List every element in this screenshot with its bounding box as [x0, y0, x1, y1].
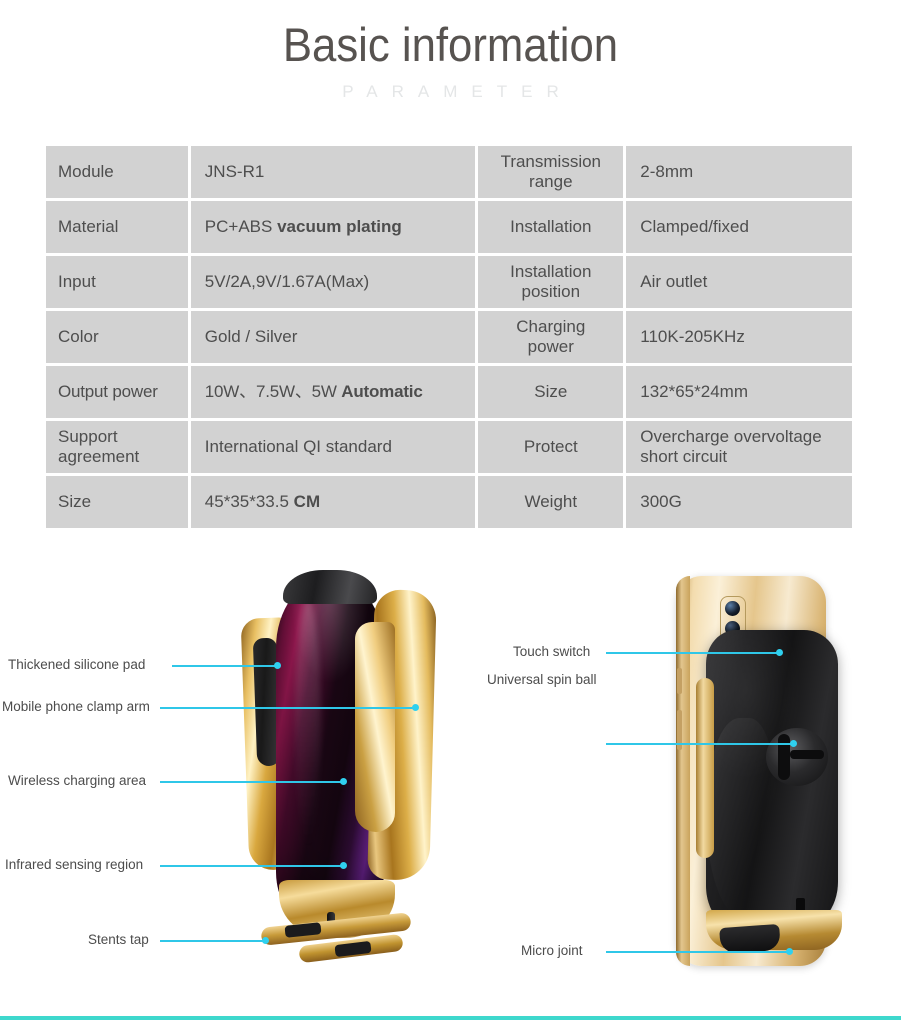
- phone-camera-lens-top: [725, 601, 740, 616]
- spec-value: Air outlet: [626, 256, 852, 308]
- callout-leader-line: [172, 665, 276, 667]
- spec-label-line2: range: [529, 172, 572, 191]
- spec-label: Transmission range: [478, 146, 623, 198]
- callout-leader-line: [160, 707, 414, 709]
- shell-gold-trim-left: [696, 678, 714, 858]
- spec-label-line1: Installation: [510, 262, 591, 281]
- spec-value-line1: Overcharge overvoltage: [640, 427, 821, 446]
- callout-dot: [412, 704, 419, 711]
- spec-value: JNS-R1: [191, 146, 476, 198]
- spec-value: 110K-205KHz: [626, 311, 852, 363]
- page-header: Basic information PARAMETER: [0, 0, 901, 102]
- spec-label: Weight: [478, 476, 623, 528]
- spec-label: Material: [46, 201, 188, 253]
- spec-value-line2: short circuit: [640, 447, 727, 466]
- spec-label: Support agreement: [46, 421, 188, 473]
- callout-leader-line: [606, 652, 778, 654]
- spec-label: Protect: [478, 421, 623, 473]
- bottom-divider: [0, 1016, 901, 1020]
- callout-label-mobile-phone-clamp-arm: Mobile phone clamp arm: [2, 700, 150, 714]
- product-image-front: [243, 560, 433, 980]
- spec-value: 5V/2A,9V/1.67A(Max): [191, 256, 476, 308]
- shell-gold-trim-right: [828, 708, 842, 838]
- spec-label: Installation: [478, 201, 623, 253]
- table-row: Size 45*35*33.5 CM Weight 300G: [46, 476, 852, 528]
- spec-value: Overcharge overvoltage short circuit: [626, 421, 852, 473]
- callout-leader-line: [160, 940, 264, 942]
- spec-label: Charging power: [478, 311, 623, 363]
- callout-dot: [274, 662, 281, 669]
- spec-value-part2: vacuum plating: [277, 217, 402, 236]
- phone-mute-switch: [677, 668, 682, 694]
- table-row: Output power 10W、7.5W、5W Automatic Size …: [46, 366, 852, 418]
- spec-label: Input: [46, 256, 188, 308]
- body-highlight: [295, 600, 321, 850]
- callout-dot: [776, 649, 783, 656]
- callout-label-micro-joint: Micro joint: [521, 944, 583, 958]
- callout-dot: [786, 948, 793, 955]
- callout-leader-line: [606, 951, 788, 953]
- page-subtitle: PARAMETER: [0, 82, 901, 102]
- page-title: Basic information: [32, 18, 870, 72]
- spec-value: Clamped/fixed: [626, 201, 852, 253]
- spec-label-line2: position: [521, 282, 580, 301]
- spec-value: 300G: [626, 476, 852, 528]
- callout-label-stents-tap: Stents tap: [88, 933, 149, 947]
- product-diagram: Thickened silicone pad Mobile phone clam…: [0, 548, 901, 1003]
- spec-value: International QI standard: [191, 421, 476, 473]
- spec-label-line1: Support: [58, 427, 118, 446]
- spec-value: 10W、7.5W、5W Automatic: [191, 366, 476, 418]
- spec-value-part2: CM: [294, 492, 320, 511]
- callout-leader-line: [160, 865, 342, 867]
- table-row: Support agreement International QI stand…: [46, 421, 852, 473]
- spec-value: 45*35*33.5 CM: [191, 476, 476, 528]
- callout-dot: [340, 862, 347, 869]
- spec-value-part1: PC+ABS: [205, 217, 273, 236]
- callout-leader-line: [606, 743, 792, 745]
- callout-dot: [262, 937, 269, 944]
- clamp-arm-right-inner: [355, 622, 395, 832]
- spec-label-line2: power: [528, 337, 574, 356]
- specification-table: Module JNS-R1 Transmission range 2-8mm M…: [43, 143, 855, 531]
- spec-value: Gold / Silver: [191, 311, 476, 363]
- spec-label: Color: [46, 311, 188, 363]
- table-row: Input 5V/2A,9V/1.67A(Max) Installation p…: [46, 256, 852, 308]
- ball-joint-slot-vertical: [778, 734, 790, 780]
- callout-label-thickened-silicone-pad: Thickened silicone pad: [8, 658, 145, 672]
- callout-label-universal-spin-ball: Universal spin ball: [487, 673, 597, 687]
- ball-joint-slot-horizontal: [790, 750, 824, 759]
- callout-leader-line: [160, 781, 342, 783]
- callout-label-wireless-charging-area: Wireless charging area: [8, 774, 146, 788]
- spec-label: Size: [46, 476, 188, 528]
- spec-value: 132*65*24mm: [626, 366, 852, 418]
- spec-label: Installation position: [478, 256, 623, 308]
- spec-value: 2-8mm: [626, 146, 852, 198]
- shell-contour-highlight: [706, 718, 776, 918]
- callout-label-touch-switch: Touch switch: [513, 645, 590, 659]
- callout-dot: [790, 740, 797, 747]
- spec-label-line1: Charging: [516, 317, 585, 336]
- spec-value: PC+ABS vacuum plating: [191, 201, 476, 253]
- charger-top-cap: [283, 570, 377, 604]
- spec-label-line2: agreement: [58, 447, 139, 466]
- product-image-rear: [650, 558, 880, 988]
- spec-value-part1: 10W、7.5W、5W: [205, 382, 337, 401]
- callout-label-infrared-sensing-region: Infrared sensing region: [5, 858, 143, 872]
- table-row: Material PC+ABS vacuum plating Installat…: [46, 201, 852, 253]
- spec-label: Output power: [46, 366, 188, 418]
- spec-value-part2: Automatic: [341, 382, 422, 401]
- table-row: Module JNS-R1 Transmission range 2-8mm: [46, 146, 852, 198]
- callout-dot: [340, 778, 347, 785]
- phone-side-edge: [676, 576, 690, 966]
- spec-label-line1: Transmission: [501, 152, 601, 171]
- table-row: Color Gold / Silver Charging power 110K-…: [46, 311, 852, 363]
- spec-label: Module: [46, 146, 188, 198]
- spec-label: Size: [478, 366, 623, 418]
- spec-value-part1: 45*35*33.5: [205, 492, 289, 511]
